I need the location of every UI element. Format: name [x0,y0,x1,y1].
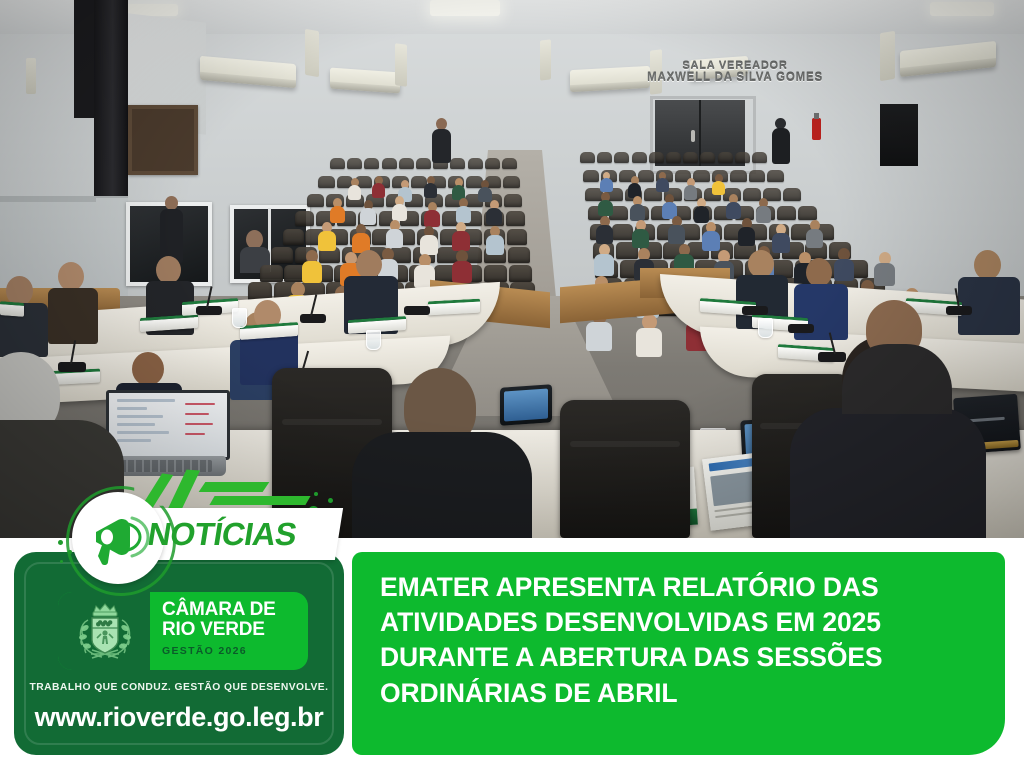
laptop-screen [106,390,230,460]
desk-nameplate [0,301,24,317]
decorative-dot [314,492,318,496]
water-glass [232,308,247,328]
gestao-label: GESTÃO 2026 [162,645,302,657]
audience-chair [506,211,525,225]
audience-chair [777,206,796,220]
audience-chair [614,152,629,163]
rio-verde-coat-of-arms-icon [72,598,138,664]
desk-microphone [196,306,222,315]
audience-chair [283,229,304,245]
desk-microphone [300,314,326,323]
wall-vent [305,29,319,77]
bottom-banner: CÂMARA DE RIO VERDE GESTÃO 2026 TRABALHO… [0,552,1024,768]
audience-chair [743,188,761,201]
audience-chair [583,170,599,182]
camara-title-line-1: CÂMARA DE [162,600,302,620]
wall-sign-line-1: SALA VEREADOR [610,60,860,72]
audience-chair [683,152,698,163]
audience-chair [700,152,715,163]
decorative-dot [68,550,72,554]
audience-chair [749,170,765,182]
audience-chair [450,158,465,169]
audience-chair [318,176,334,188]
audience-chair [718,152,733,163]
desk-microphone [742,306,768,315]
headline-line-3: DURANTE A ABERTURA DAS SESSÕES [380,640,980,675]
camara-tagline: TRABALHO QUE CONDUZ. GESTÃO QUE DESENVOL… [14,682,344,693]
audience-chair [752,152,767,163]
side-door [880,104,918,166]
noticias-label: NOTÍCIAS [145,516,341,553]
audience-chair [612,224,633,240]
audience-chair [347,158,362,169]
decorative-dot [58,540,63,545]
audience-chair [767,170,783,182]
headline-line-1: EMATER APRESENTA RELATÓRIO DAS [380,570,980,605]
audience-chair [307,194,325,207]
audience-chair [783,188,801,201]
noticias-badge: NOTÍCIAS [62,492,352,584]
audience-chair [504,194,522,207]
camara-identity-block: CÂMARA DE RIO VERDE GESTÃO 2026 [58,592,308,670]
audience-chair [507,229,528,245]
structural-beam [74,0,96,118]
ceiling-light [930,2,994,16]
desk-microphone [818,352,846,362]
audience-chair [364,158,379,169]
desk-microphone [404,306,430,315]
audience-chair [502,158,517,169]
wooden-window [128,105,198,175]
audience-chair [649,152,664,163]
news-card: SALA VEREADOR MAXWELL DA SILVA GOMES [0,0,1024,768]
headline-panel: EMATER APRESENTA RELATÓRIO DAS ATIVIDADE… [352,552,1005,755]
headline-line-4: ORDINÁRIAS DE ABRIL [380,676,980,711]
audience-chair [730,170,746,182]
audience-chair [666,152,681,163]
lightning-bolt-icon [209,496,310,505]
audience-chair [798,206,817,220]
tablet-device [500,384,552,426]
audience-chair [632,152,647,163]
audience-chair [484,265,507,283]
wall-sign-line-2: MAXWELL DA SILVA GOMES [610,72,860,85]
lightning-bolt-icon [199,482,270,492]
decorative-dot [60,560,63,563]
audience-chair [503,176,519,188]
wall-vent [26,58,36,94]
audience-chair [597,152,612,163]
audience-chair [382,158,397,169]
audience-chair [295,211,314,225]
decorative-dot [328,498,333,503]
audience-chair [271,247,293,264]
ceiling-light [430,0,500,16]
water-glass [366,330,381,350]
audience-chair [485,158,500,169]
audience-chair [693,170,709,182]
camara-title: CÂMARA DE RIO VERDE [162,600,302,640]
headline-line-2: ATIVIDADES DESENVOLVIDAS EM 2025 [380,605,980,640]
water-glass [758,318,773,338]
fire-extinguisher-icon [812,118,821,140]
wall-trim [0,196,96,202]
audience-chair [416,158,431,169]
council-chamber-photo: SALA VEREADOR MAXWELL DA SILVA GOMES [0,0,1024,538]
desk-nameplate [428,299,480,316]
chamber-wall-sign: SALA VEREADOR MAXWELL DA SILVA GOMES [610,60,860,85]
audience-chair [509,265,532,283]
wall-vent [395,43,407,87]
audience-chair [735,152,750,163]
megaphone-icon [88,512,150,568]
audience-chair [468,158,483,169]
audience-chair [638,170,654,182]
audience-chair [508,247,530,264]
executive-chair [560,400,690,538]
audience-chair [580,152,595,163]
audience-chair [466,176,482,188]
camara-website-url[interactable]: www.rioverde.go.leg.br [14,702,344,733]
audience-chair [399,158,414,169]
wall-vent [880,31,895,81]
audience-chair [330,158,345,169]
camara-title-line-2: RIO VERDE [162,620,302,640]
news-headline: EMATER APRESENTA RELATÓRIO DAS ATIVIDADE… [380,570,980,711]
wall-vent [540,39,551,80]
desk-microphone [788,324,814,333]
audience-chair [260,265,283,283]
